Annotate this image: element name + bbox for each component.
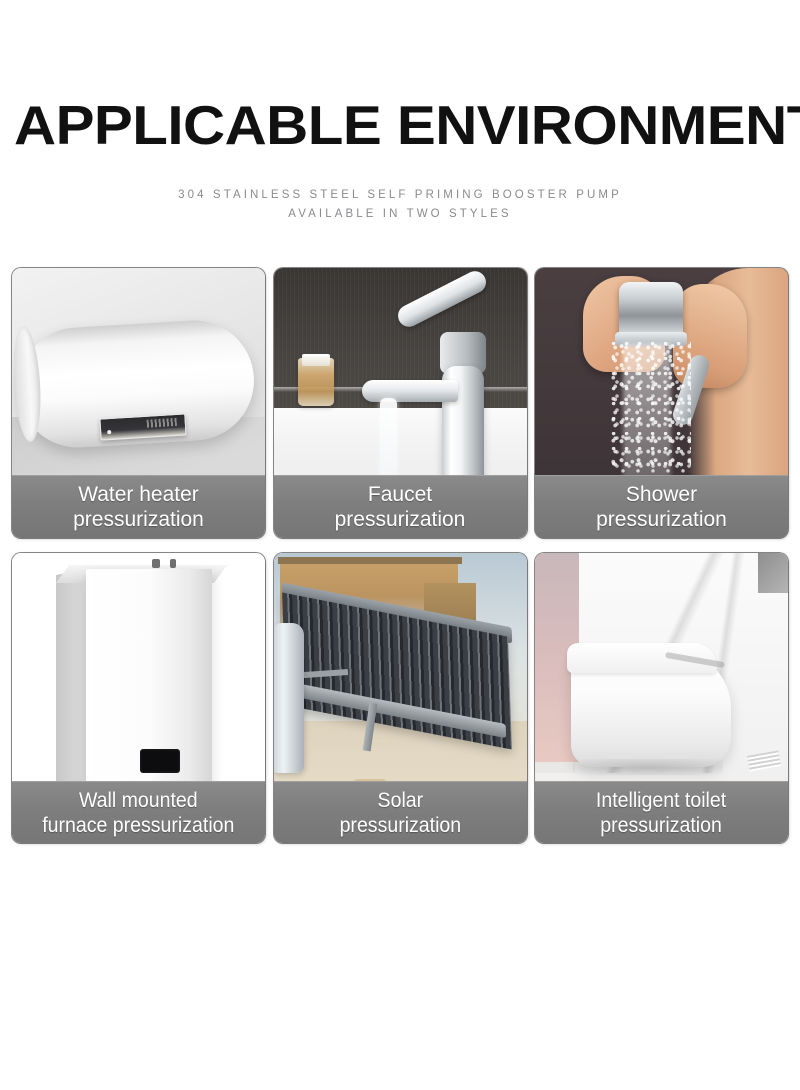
card-caption-text: Solar pressurization	[339, 788, 461, 838]
card-caption: Shower pressurization	[535, 475, 788, 538]
card-solar[interactable]: Solar pressurization	[274, 553, 527, 843]
subtitle-block: 304 STAINLESS STEEL SELF PRIMING BOOSTER…	[0, 186, 800, 224]
card-caption-text: Intelligent toilet pressurization	[596, 788, 726, 838]
application-cards-grid: Water heater pressurization Faucet press…	[12, 268, 788, 823]
card-faucet[interactable]: Faucet pressurization	[274, 268, 527, 538]
subtitle-line-2: AVAILABLE IN TWO STYLES	[0, 205, 800, 224]
card-caption: Wall mounted furnace pressurization	[12, 781, 265, 843]
card-intelligent-toilet[interactable]: Intelligent toilet pressurization	[535, 553, 788, 843]
card-shower[interactable]: Shower pressurization	[535, 268, 788, 538]
card-caption: Intelligent toilet pressurization	[535, 781, 788, 843]
card-caption: Faucet pressurization	[274, 475, 527, 538]
card-caption: Solar pressurization	[274, 781, 527, 843]
card-caption: Water heater pressurization	[12, 475, 265, 538]
card-wall-furnace[interactable]: Wall mounted furnace pressurization	[12, 553, 265, 843]
card-water-heater[interactable]: Water heater pressurization	[12, 268, 265, 538]
card-caption-text: Wall mounted furnace pressurization	[42, 788, 234, 838]
page-title: APPLICABLE ENVIRONMENT	[14, 96, 800, 154]
subtitle-line-1: 304 STAINLESS STEEL SELF PRIMING BOOSTER…	[0, 186, 800, 205]
